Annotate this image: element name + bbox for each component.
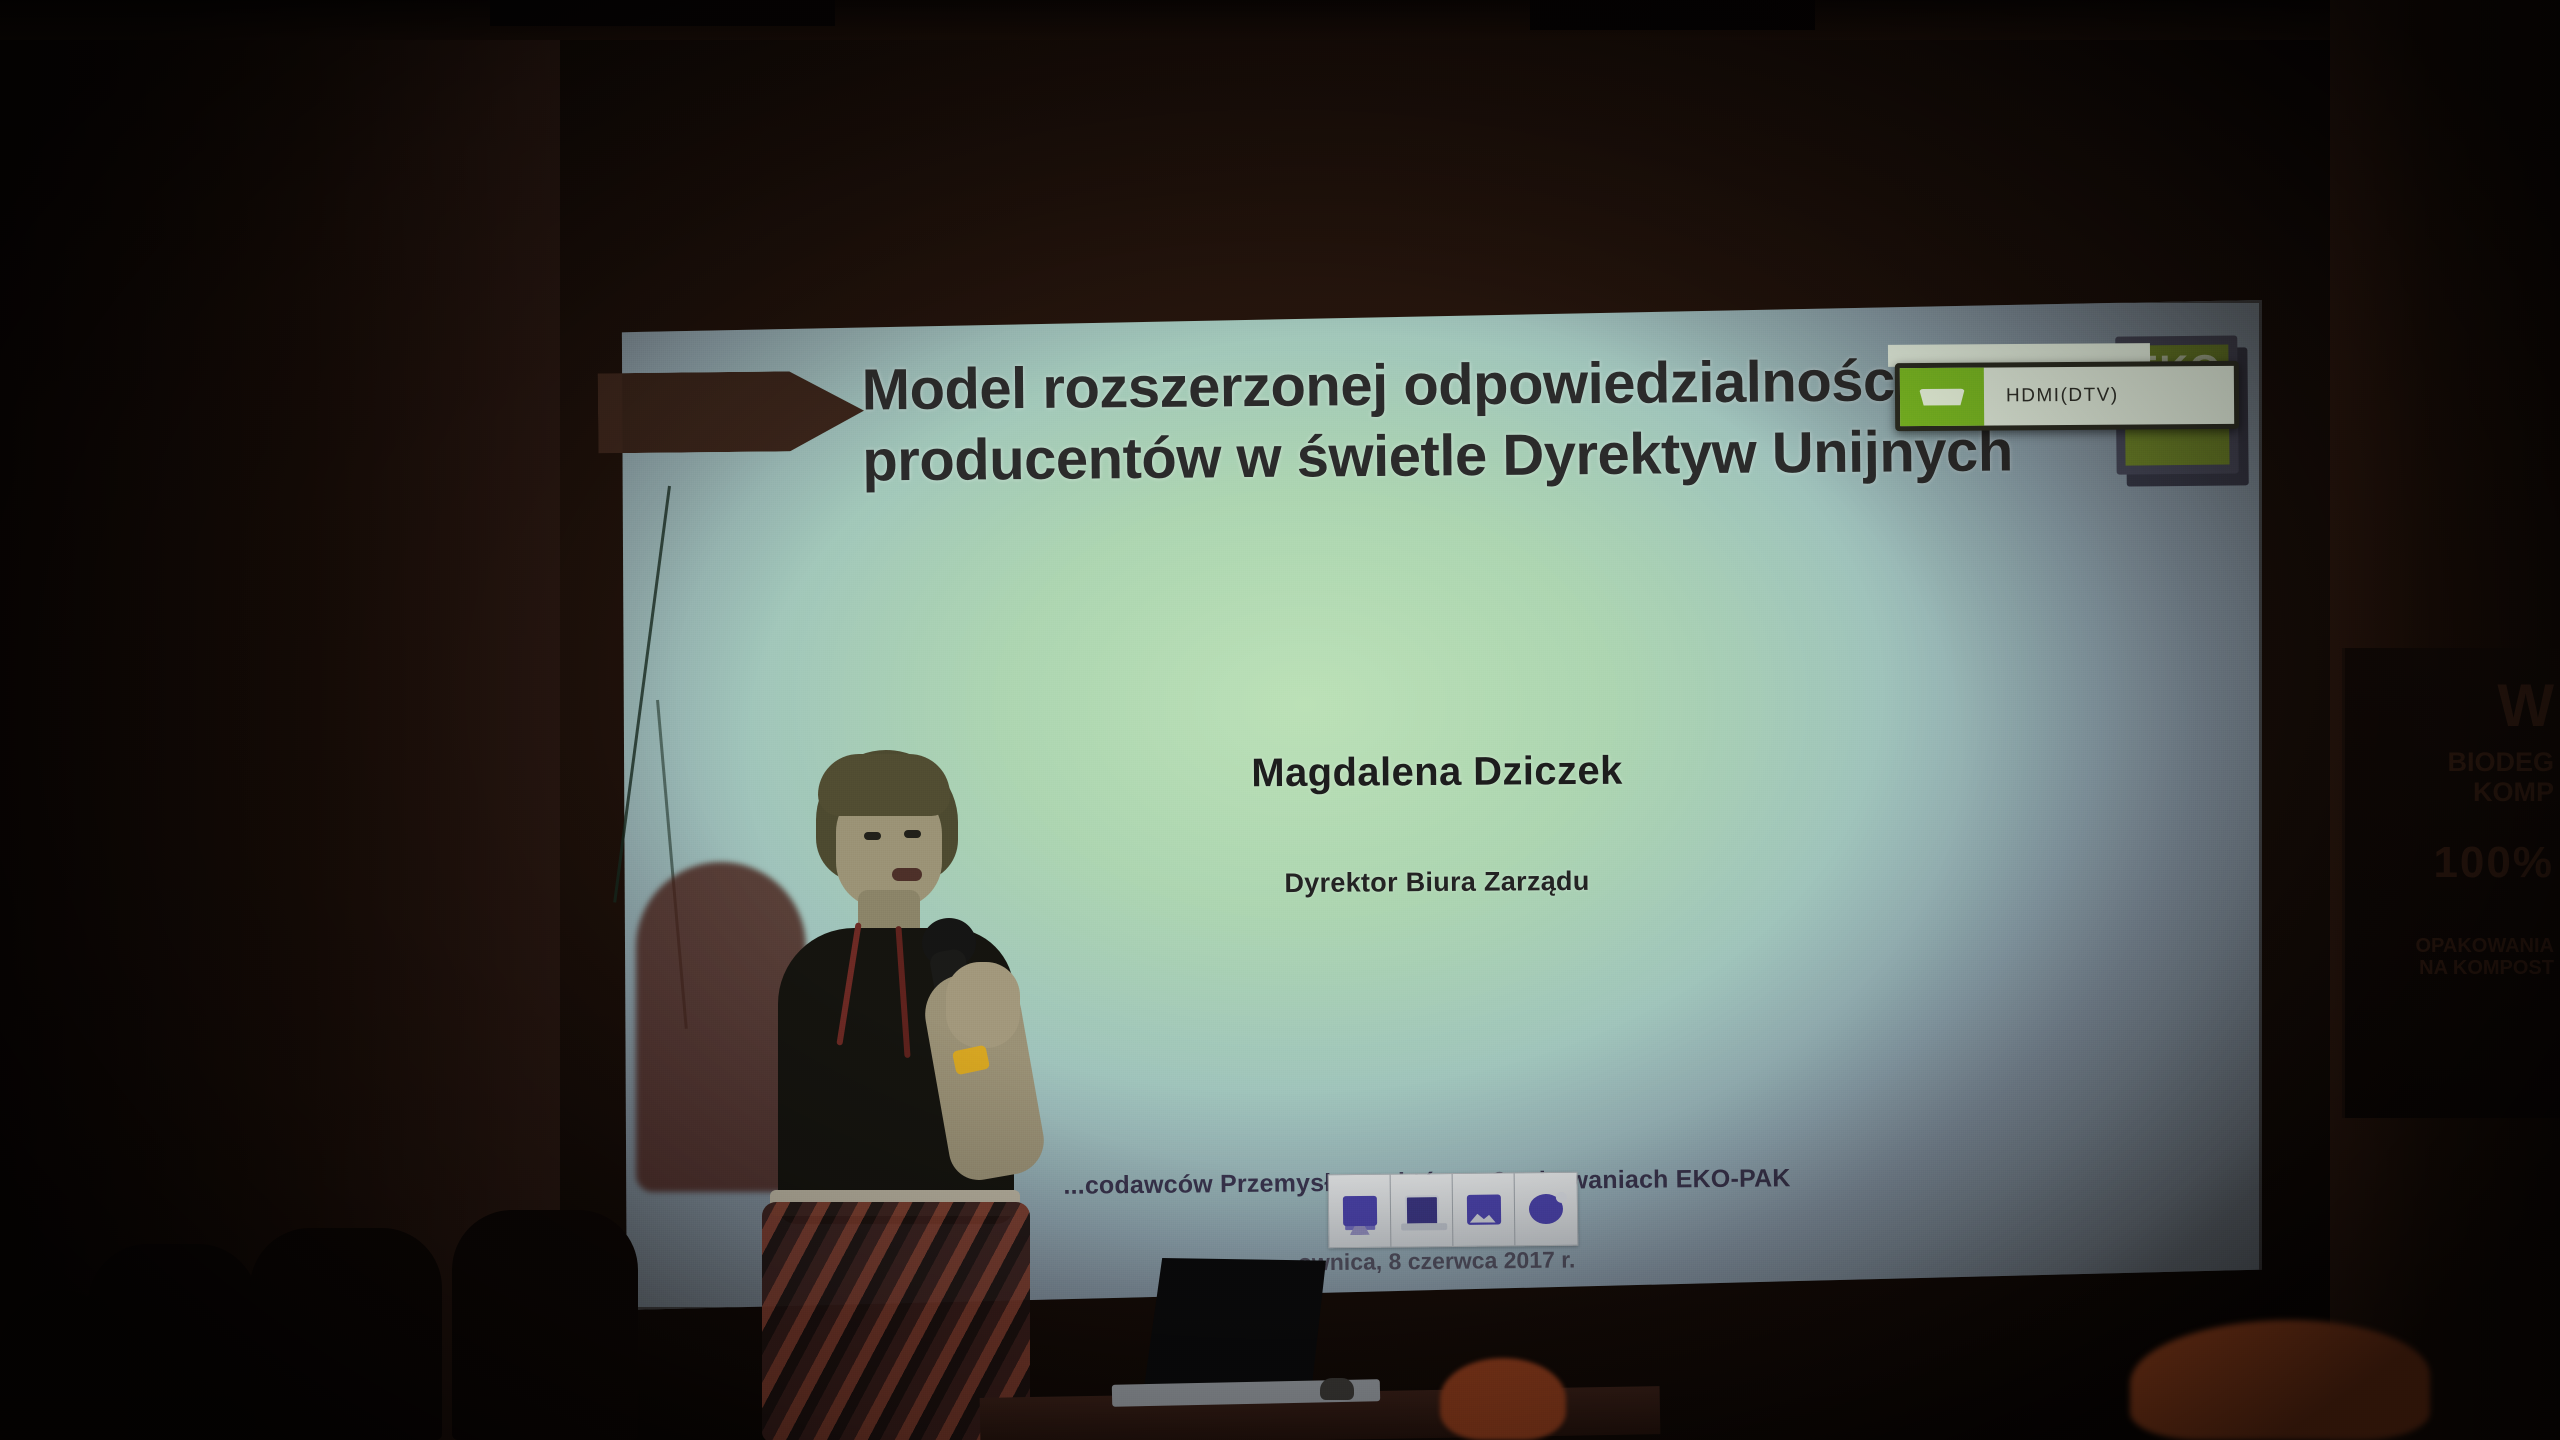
chair-foreground-3 <box>452 1210 638 1440</box>
taskbar-item-monitor[interactable] <box>1329 1175 1392 1248</box>
presenter-laptop-lid <box>1144 1258 1326 1390</box>
rollup-banner: W BIODEG KOMP 100% OPAKOWANIA NA KOMPOST <box>2342 648 2560 1118</box>
hdmi-input-osd: HDMI(DTV) <box>1895 361 2239 431</box>
rollup-line-0: W <box>2359 672 2554 739</box>
chair-foreground-1 <box>88 1244 258 1440</box>
rollup-line-3: 100% <box>2359 838 2554 887</box>
ceiling-panel-right <box>1530 0 1815 30</box>
hdmi-input-label: HDMI(DTV) <box>1984 384 2234 408</box>
presenter-mouse <box>1320 1378 1354 1400</box>
speaker-eye-left <box>864 832 881 840</box>
network-icon <box>1529 1194 1563 1224</box>
speaker-hair-front <box>818 754 950 816</box>
wall-top <box>0 0 2560 40</box>
speaker-figure <box>740 750 1060 1440</box>
taskbar-item-photo[interactable] <box>1453 1173 1516 1246</box>
taskbar[interactable] <box>1328 1172 1579 1249</box>
laptop-icon <box>1404 1195 1438 1225</box>
title-arrow-banner <box>598 371 865 454</box>
chair-foreground-2 <box>250 1228 442 1440</box>
speaker-eye-right <box>904 830 921 838</box>
rollup-line-4: OPAKOWANIA <box>2359 935 2554 957</box>
speaker-hand <box>946 962 1020 1048</box>
rollup-line-1: BIODEG <box>2359 747 2554 777</box>
speaker-mouth <box>892 868 922 881</box>
hdmi-port-glyph <box>1919 388 1965 405</box>
monitor-icon <box>1342 1196 1376 1226</box>
hdmi-port-icon <box>1900 368 1984 427</box>
rollup-banner-text: W BIODEG KOMP 100% OPAKOWANIA NA KOMPOST <box>2359 672 2554 980</box>
ceiling-panel-left <box>490 0 835 26</box>
rollup-line-5: NA KOMPOST <box>2359 957 2554 979</box>
audience-head-1 <box>1440 1358 1566 1440</box>
audience-head-2 <box>2130 1320 2430 1440</box>
photo-scene: Model rozszerzonej odpowiedzialności pro… <box>0 0 2560 1440</box>
taskbar-item-laptop[interactable] <box>1391 1174 1454 1247</box>
photo-icon <box>1466 1195 1500 1225</box>
rollup-line-2: KOMP <box>2359 777 2554 807</box>
taskbar-item-network[interactable] <box>1515 1173 1578 1246</box>
